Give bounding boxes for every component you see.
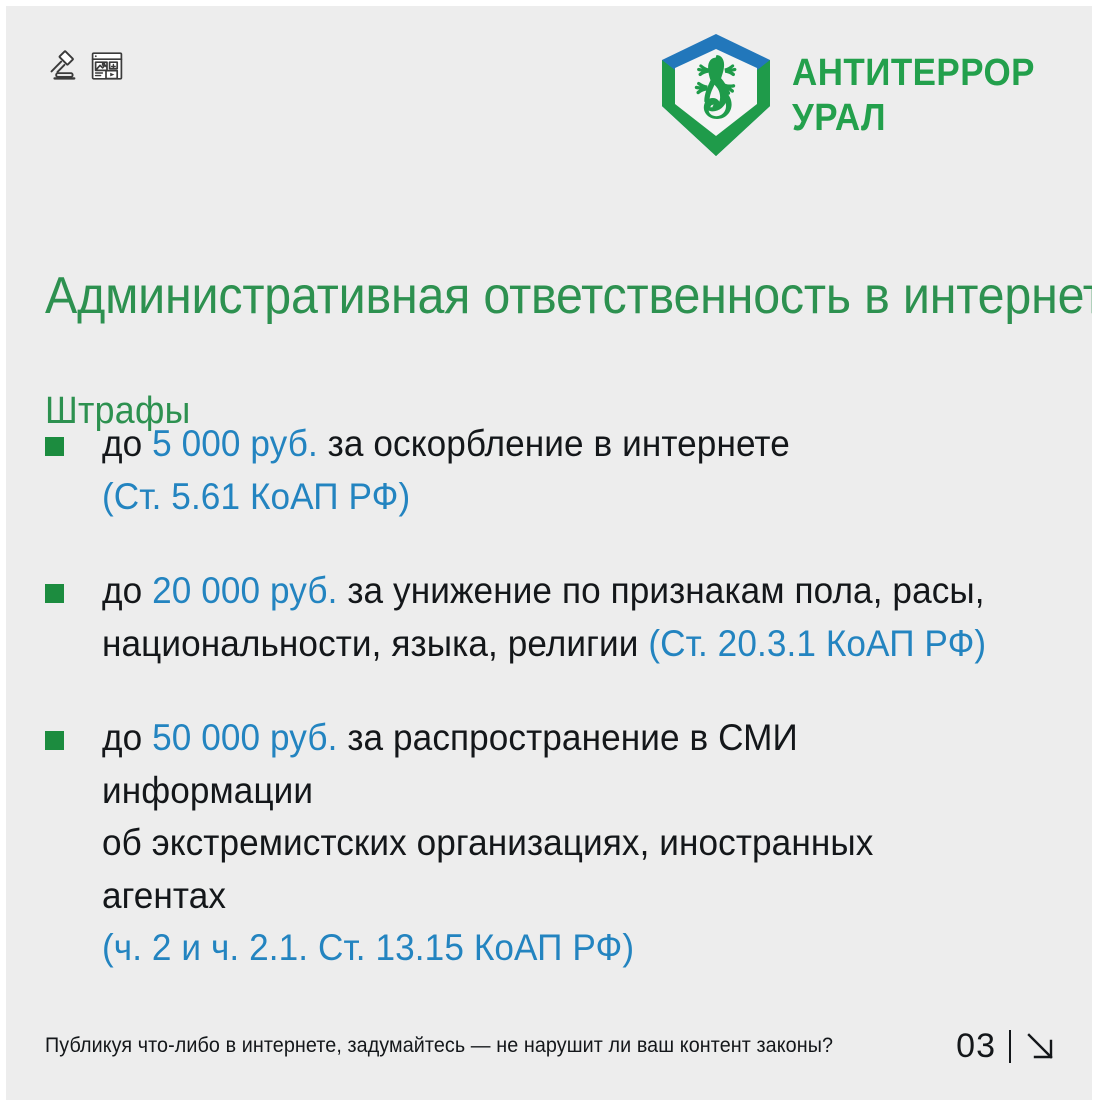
slide-footer: Публикуя что-либо в интернете, задумайте… — [6, 990, 1092, 1100]
highlighted-text: (Ст. 5.61 КоАП РФ) — [102, 476, 410, 517]
plain-text: за оскорбление в интернете — [318, 423, 790, 464]
slide-header: АНТИТЕРРОР УРАЛ — [6, 6, 1092, 186]
bullet-square-icon — [45, 437, 64, 456]
shield-lizard-logo — [656, 30, 776, 160]
list-item-text: до 20 000 руб. за унижение по признакам … — [102, 565, 998, 670]
list-item: до 50 000 руб. за распространение в СМИ … — [45, 712, 1045, 975]
penalty-list: до 5 000 руб. за оскорбление в интернете… — [45, 418, 1045, 975]
list-item-text: до 5 000 руб. за оскорбление в интернете… — [102, 418, 998, 523]
page-number: 03 — [956, 1027, 996, 1066]
highlighted-text: 50 000 руб. — [152, 717, 337, 758]
highlighted-text: (ч. 2 и ч. 2.1. Ст. 13.15 КоАП РФ) — [102, 927, 634, 968]
page-divider — [1009, 1030, 1011, 1063]
highlighted-text: 20 000 руб. — [152, 570, 337, 611]
arrow-down-right-icon — [1024, 1030, 1058, 1064]
media-window-icon — [90, 49, 124, 83]
page-indicator: 03 — [956, 1027, 1058, 1066]
plain-text: до — [102, 717, 152, 758]
bullet-square-icon — [45, 584, 64, 603]
footer-note: Публикуя что-либо в интернете, задумайте… — [45, 1034, 833, 1058]
brand-logo: АНТИТЕРРОР УРАЛ — [656, 30, 1056, 160]
bullet-square-icon — [45, 731, 64, 750]
brand-wordmark: АНТИТЕРРОР УРАЛ — [792, 54, 1056, 137]
brand-line-1: АНТИТЕРРОР — [792, 54, 1035, 92]
list-item-text: до 50 000 руб. за распространение в СМИ … — [102, 712, 998, 975]
gavel-icon — [45, 48, 81, 84]
brand-line-2: УРАЛ — [792, 99, 1035, 137]
highlighted-text: (Ст. 20.3.1 КоАП РФ) — [648, 623, 986, 664]
slide-canvas: АНТИТЕРРОР УРАЛ Административная ответст… — [6, 6, 1092, 1100]
list-item: до 5 000 руб. за оскорбление в интернете… — [45, 418, 1045, 523]
plain-text: до — [102, 423, 152, 464]
highlighted-text: 5 000 руб. — [152, 423, 318, 464]
plain-text: до — [102, 570, 152, 611]
page-title: Административная ответственность в интер… — [45, 269, 984, 324]
header-icon-group — [45, 48, 124, 84]
list-item: до 20 000 руб. за унижение по признакам … — [45, 565, 1045, 670]
